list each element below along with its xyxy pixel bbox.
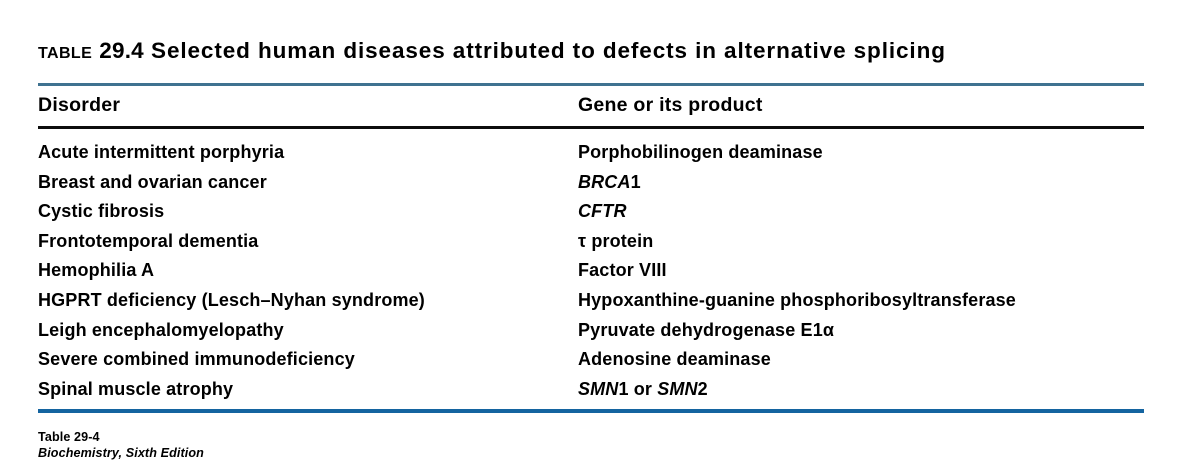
caption-table-number: Table 29-4 (38, 429, 638, 445)
table-rule-header (38, 126, 1144, 129)
gene-text: Pyruvate dehydrogenase E1α (578, 320, 834, 340)
cell-disorder: Breast and ovarian cancer (38, 173, 267, 192)
table-row: Leigh encephalomyelopathy Pyruvate dehyd… (38, 321, 1144, 351)
table-row: Severe combined immunodeficiency Adenosi… (38, 350, 1144, 380)
table-row: Hemophilia A Factor VIII (38, 261, 1144, 291)
column-header-disorder: Disorder (38, 94, 120, 117)
gene-suffix: 1 or (618, 379, 657, 399)
cell-gene: SMN1 or SMN2 (578, 380, 708, 399)
cell-disorder: HGPRT deficiency (Lesch–Nyhan syndrome) (38, 291, 425, 310)
figure-caption: Table 29-4 Biochemistry, Sixth Edition (38, 429, 638, 462)
cell-gene: BRCA1 (578, 173, 641, 192)
gene-symbol: SMN (578, 379, 618, 399)
cell-gene: Pyruvate dehydrogenase E1α (578, 321, 834, 340)
gene-text: τ protein (578, 231, 653, 251)
gene-symbol: BRCA (578, 172, 631, 192)
cell-gene: τ protein (578, 232, 653, 251)
table-figure: Table 29.4 Selected human diseases attri… (0, 0, 1184, 470)
cell-gene: Adenosine deaminase (578, 350, 771, 369)
table-row: Spinal muscle atrophy SMN1 or SMN2 (38, 380, 1144, 410)
gene-suffix: 1 (631, 172, 641, 192)
gene-suffix-2: 2 (698, 379, 708, 399)
cell-gene: Hypoxanthine-guanine phosphoribosyltrans… (578, 291, 1016, 310)
table-rule-bottom (38, 409, 1144, 413)
cell-gene: CFTR (578, 202, 627, 221)
table-column-headers: Disorder Gene or its product (38, 94, 1144, 122)
gene-text: Hypoxanthine-guanine phosphoribosyltrans… (578, 290, 1016, 310)
table-row: Frontotemporal dementia τ protein (38, 232, 1144, 262)
gene-text: Porphobilinogen deaminase (578, 142, 823, 162)
table-title: Table 29.4 Selected human diseases attri… (38, 38, 1144, 64)
table-row: Cystic fibrosis CFTR (38, 202, 1144, 232)
table-rule-top (38, 83, 1144, 86)
gene-symbol-2: SMN (657, 379, 697, 399)
cell-disorder: Hemophilia A (38, 261, 154, 280)
table-title-number: 29.4 (99, 38, 144, 63)
cell-disorder: Cystic fibrosis (38, 202, 164, 221)
cell-disorder: Spinal muscle atrophy (38, 380, 233, 399)
table-row: Acute intermittent porphyria Porphobilin… (38, 143, 1144, 173)
column-header-gene: Gene or its product (578, 94, 763, 117)
table-title-label: Table (38, 38, 92, 63)
cell-disorder: Severe combined immunodeficiency (38, 350, 355, 369)
cell-disorder: Leigh encephalomyelopathy (38, 321, 284, 340)
cell-disorder: Frontotemporal dementia (38, 232, 258, 251)
cell-disorder: Acute intermittent porphyria (38, 143, 284, 162)
gene-text: Adenosine deaminase (578, 349, 771, 369)
table-body: Acute intermittent porphyria Porphobilin… (38, 143, 1144, 409)
table-title-text: Selected human diseases attributed to de… (151, 38, 946, 63)
caption-source-title: Biochemistry, Sixth Edition (38, 445, 638, 461)
table-row: HGPRT deficiency (Lesch–Nyhan syndrome) … (38, 291, 1144, 321)
cell-gene: Porphobilinogen deaminase (578, 143, 823, 162)
gene-symbol: CFTR (578, 201, 627, 221)
cell-gene: Factor VIII (578, 261, 667, 280)
gene-text: Factor VIII (578, 260, 667, 280)
table-row: Breast and ovarian cancer BRCA1 (38, 173, 1144, 203)
